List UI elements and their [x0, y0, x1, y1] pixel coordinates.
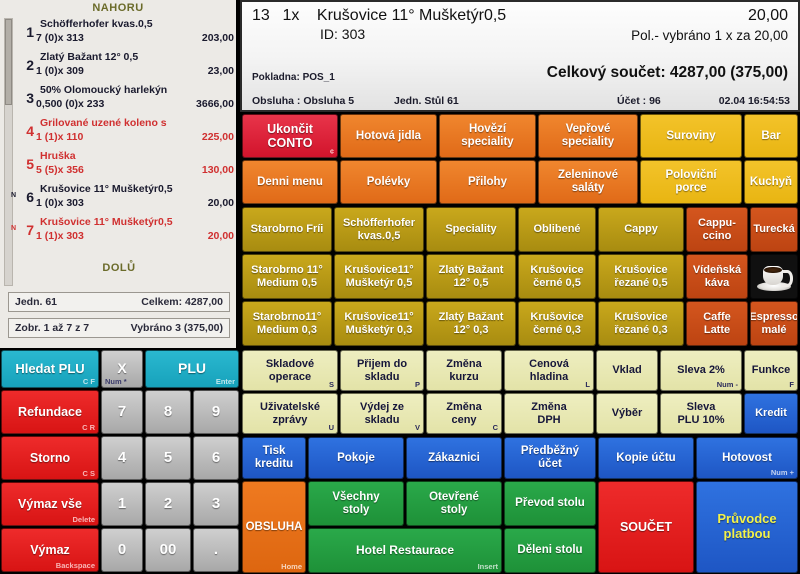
category-button-row2-3-label: Přilohy [466, 176, 509, 189]
function-button-row1-4-label: Cenováhladina [527, 358, 571, 383]
keypad-key-3-label: 3 [210, 496, 222, 513]
function-button-row2-1[interactable]: UživatelskézprávyU [242, 393, 338, 434]
function-button-row3-1-label: Tiskkreditu [253, 445, 295, 471]
line-item-number: 6 [18, 189, 34, 205]
function-button-row2-4[interactable]: ZměnaDPH [504, 393, 594, 434]
grand-total-label: Celkový součet: 4287,00 (375,00) [547, 64, 788, 82]
prevod-stolu-button[interactable]: Převod stolu [504, 481, 596, 526]
multiply-key-label: X [115, 361, 128, 377]
line-item-price: 3666,00 [196, 98, 234, 110]
keypad-key-8[interactable]: 8 [145, 390, 191, 434]
category-button-row2-2-label: Polévky [365, 176, 412, 189]
keypad-key-5-label: 5 [162, 450, 174, 467]
storno-button[interactable]: StornoC S [1, 436, 99, 480]
function-button-row3-4[interactable]: Předběžnýúčet [504, 437, 596, 479]
line-item-qty: 1 (0)x 309 [36, 65, 84, 77]
product-button-row5-7-label: Espressomalé [750, 311, 798, 336]
keypad-key-3[interactable]: 3 [193, 482, 239, 526]
line-item-name: Grilované uzené koleno s [40, 117, 167, 129]
line-item-name: Krušovice 11° Mušketýr0,5 [40, 216, 173, 228]
product-button-row4-2-label: Krušovice11°Mušketýr 0,5 [342, 264, 415, 289]
function-button-row3-4-label: Předběžnýúčet [519, 445, 581, 471]
obsluha-button-shortcut: Home [281, 563, 302, 571]
receipt-range-label: Zobr. 1 až 7 z 7 [15, 322, 89, 334]
function-button-row1-6-shortcut: Num - [717, 381, 738, 389]
product-button-row5-3-label: Zlatý Bažant12° 0,3 [437, 311, 506, 336]
product-button-row5-5-label: Krušoviceřezané 0,3 [612, 311, 669, 336]
function-button-row1-1-shortcut: S [329, 381, 334, 389]
vsechny-stoly-button[interactable]: Všechnystoly [308, 481, 404, 526]
line-item-number: 5 [18, 156, 34, 172]
plu-button-label: PLU [176, 361, 208, 377]
category-button-row2-3[interactable]: Přilohy [439, 160, 536, 204]
receipt-line-item[interactable]: 1Schöfferhofer kvas.0,57 (0)x 313203,00 [14, 18, 236, 51]
product-button-row5-1[interactable]: Starobrno11°Medium 0,3 [242, 301, 332, 346]
receipt-line-item[interactable]: N6Krušovice 11° Mušketýr0,51 (0)x 30320,… [14, 183, 236, 216]
multiply-key-shortcut: Num * [105, 378, 127, 386]
keypad-key-7-label: 7 [116, 404, 128, 421]
category-button-row2-1-label: Denni menu [255, 176, 325, 189]
category-button-row2-6-label: Kuchyň [748, 176, 794, 189]
receipt-line-item[interactable]: 4Grilované uzené koleno s1 (1)x 110225,0… [14, 117, 236, 150]
pos-application: NAHORU 1Schöfferhofer kvas.0,57 (0)x 313… [0, 0, 800, 574]
line-item-flag: N [11, 192, 16, 199]
product-button-row4-4-label: Krušovicečerné 0,5 [528, 264, 585, 289]
category-product-grid: UkončitCONTO¢Hotová jidlaHovězíspecialit… [240, 113, 800, 348]
line-item-qty: 5 (5)x 356 [36, 164, 84, 176]
line-item-name: Krušovice 11° Mušketýr0,5 [40, 183, 173, 195]
function-button-row2-7[interactable]: Kredit [744, 393, 798, 434]
category-button-row1-4[interactable]: Vepřovéspeciality [538, 114, 638, 158]
line-item-qty: 0,500 (0)x 233 [36, 98, 104, 110]
product-button-row4-7[interactable] [750, 254, 798, 299]
plu-button-shortcut: Enter [216, 378, 235, 386]
line-item-qty: 1 (1)x 303 [36, 230, 84, 242]
product-button-row3-5-label: Cappy [622, 223, 660, 235]
keypad-key-1-label: 1 [116, 496, 128, 513]
receipt-unit-label: Jedn. 61 [15, 296, 57, 308]
category-button-row1-5-label: Suroviny [664, 130, 717, 143]
function-button-row2-3[interactable]: ZměnacenyC [426, 393, 502, 434]
category-button-row2-1[interactable]: Denni menu [242, 160, 338, 204]
line-item-number: 7 [18, 222, 34, 238]
category-button-row1-3-label: Hovězíspeciality [459, 123, 515, 149]
product-button-row4-2[interactable]: Krušovice11°Mušketýr 0,5 [334, 254, 424, 299]
function-button-row1-5-label: Vklad [610, 364, 643, 376]
storno-button-shortcut: C S [82, 470, 95, 478]
product-button-row3-4-label: Oblibené [531, 223, 582, 235]
function-button-row1-1-label: Skladovéoperace [264, 358, 316, 383]
function-button-row2-5[interactable]: Výběr [596, 393, 658, 434]
current-line-row: 13 1x Krušovice 11° Mušketýr0,5 [252, 7, 506, 25]
receipt-selected-label: Vybráno 3 (375,00) [131, 322, 223, 334]
line-item-number: 1 [18, 24, 34, 40]
function-button-row1-3[interactable]: Změnakurzu [426, 350, 502, 391]
category-button-row2-4-label: Zeleninovésaláty [556, 169, 620, 195]
line-item-name: Hruška [40, 150, 76, 162]
pruvodce-platbou-button[interactable]: Průvodceplatbou [696, 481, 798, 573]
category-button-row2-6[interactable]: Kuchyň [744, 160, 798, 204]
receipt-panel: NAHORU 1Schöfferhofer kvas.0,57 (0)x 313… [0, 0, 238, 348]
function-button-row1-2[interactable]: Přijem doskladuP [340, 350, 424, 391]
product-button-row5-6-label: CaffeLatte [701, 311, 733, 336]
receipt-summary-row-1: Jedn. 61 Celkem: 4287,00 [8, 292, 230, 312]
keypad-key-8-label: 8 [162, 404, 174, 421]
receipt-line-item[interactable]: 2Zlatý Bažant 12° 0,51 (0)x 30923,00 [14, 51, 236, 84]
current-line-qty: 1x [282, 7, 312, 25]
hotel-restaurace-button-label: Hotel Restaurace [354, 544, 456, 557]
keypad-key-9[interactable]: 9 [193, 390, 239, 434]
prevod-stolu-button-label: Převod stolu [513, 497, 587, 510]
product-button-row3-1[interactable]: Starobrno Fríi [242, 207, 332, 252]
info-display-panel: 13 1x Krušovice 11° Mušketýr0,5 20,00 ID… [240, 0, 800, 112]
function-button-row1-5[interactable]: Vklad [596, 350, 658, 391]
product-button-row4-5[interactable]: Krušoviceřezané 0,5 [598, 254, 684, 299]
unit-label: Jedn. Stůl 61 [394, 95, 459, 107]
obsluha-button[interactable]: OBSLUHAHome [242, 481, 306, 573]
line-item-price: 23,00 [208, 65, 234, 77]
hledat-plu-button-shortcut: C F [83, 378, 95, 386]
category-button-row1-2-label: Hotová jidla [354, 130, 423, 143]
line-item-name: 50% Olomoucký harlekýn [40, 84, 167, 96]
product-button-row4-6-label: Vídeňskákáva [691, 264, 743, 289]
keypad-key-5[interactable]: 5 [145, 436, 191, 480]
current-line-name: Krušovice 11° Mušketýr0,5 [317, 7, 506, 24]
function-button-row2-3-label: Změnaceny [444, 401, 483, 426]
category-button-row1-1[interactable]: UkončitCONTO¢ [242, 114, 338, 158]
multiply-key[interactable]: XNum * [101, 350, 143, 388]
line-item-name: Schöfferhofer kvas.0,5 [40, 18, 153, 30]
product-button-row4-3[interactable]: Zlatý Bažant12° 0,5 [426, 254, 516, 299]
product-button-row3-7[interactable]: Turecká [750, 207, 798, 252]
product-button-row3-2[interactable]: Schöfferhoferkvas.0,5 [334, 207, 424, 252]
vsechny-stoly-button-label: Všechnystoly [330, 491, 381, 517]
deleni-stolu-button[interactable]: Děleni stolu [504, 528, 596, 573]
category-button-row2-4[interactable]: Zeleninovésaláty [538, 160, 638, 204]
keypad-key-0[interactable]: 0 [101, 528, 143, 572]
receipt-line-item[interactable]: 350% Olomoucký harlekýn0,500 (0)x 233366… [14, 84, 236, 117]
category-button-row1-3[interactable]: Hovězíspeciality [439, 114, 536, 158]
function-button-row1-7[interactable]: FunkceF [744, 350, 798, 391]
coffee-cup-icon [751, 255, 797, 298]
keypad-key-7[interactable]: 7 [101, 390, 143, 434]
product-button-row4-5-label: Krušoviceřezané 0,5 [612, 264, 669, 289]
pruvodce-platbou-button-label: Průvodceplatbou [715, 512, 778, 541]
receipt-line-item[interactable]: N7Krušovice 11° Mušketýr0,51 (1)x 30320,… [14, 216, 236, 249]
hledat-plu-button-label: Hledat PLU [13, 362, 86, 377]
line-item-qty: 1 (0)x 303 [36, 197, 84, 209]
product-button-row3-3[interactable]: Speciality [426, 207, 516, 252]
keypad-key-1[interactable]: 1 [101, 482, 143, 526]
product-button-row4-1[interactable]: Starobrno 11°Medium 0,5 [242, 254, 332, 299]
vymaz-vse-button[interactable]: Výmaz všeDelete [1, 482, 99, 526]
function-button-row2-2-label: Výdej zeskladu [358, 401, 406, 426]
deleni-stolu-button-label: Děleni stolu [515, 544, 584, 557]
category-button-row1-5[interactable]: Suroviny [640, 114, 742, 158]
function-button-row1-7-shortcut: F [789, 381, 794, 389]
function-button-row3-1[interactable]: Tiskkreditu [242, 437, 306, 479]
function-button-row3-6[interactable]: HotovostNum + [696, 437, 798, 479]
product-button-row5-1-label: Starobrno11°Medium 0,3 [251, 311, 324, 336]
current-line-selected-info: Pol.- vybráno 1 x za 20,00 [631, 28, 788, 43]
keypad-key-2[interactable]: 2 [145, 482, 191, 526]
product-button-row5-6[interactable]: CaffeLatte [686, 301, 748, 346]
product-button-row3-7-label: Turecká [751, 223, 796, 235]
product-button-row3-4[interactable]: Oblibené [518, 207, 596, 252]
refundace-button-label: Refundace [16, 405, 84, 419]
keypad-key-4[interactable]: 4 [101, 436, 143, 480]
vymaz-vse-button-shortcut: Delete [72, 516, 95, 524]
function-button-row1-2-label: Přijem doskladu [355, 358, 409, 383]
product-button-row5-5[interactable]: Krušoviceřezané 0,3 [598, 301, 684, 346]
soucet-button[interactable]: SOUČET [598, 481, 694, 573]
function-button-row3-5[interactable]: Kopie účtu [598, 437, 694, 479]
product-button-row4-6[interactable]: Vídeňskákáva [686, 254, 748, 299]
hotel-restaurace-button-shortcut: Insert [478, 563, 498, 571]
otevrene-stoly-button[interactable]: Otevřenéstoly [406, 481, 502, 526]
line-item-price: 225,00 [202, 131, 234, 143]
current-line-price: 20,00 [748, 7, 788, 25]
line-item-flag: N [11, 225, 16, 232]
category-button-row2-2[interactable]: Polévky [340, 160, 437, 204]
function-button-row1-6[interactable]: Sleva 2%Num - [660, 350, 742, 391]
function-button-row1-4[interactable]: CenováhladinaL [504, 350, 594, 391]
category-button-row1-4-label: Vepřovéspeciality [560, 123, 616, 149]
category-button-row1-6[interactable]: Bar [744, 114, 798, 158]
keypad-key-9-label: 9 [210, 404, 222, 421]
product-button-row3-2-label: Schöfferhoferkvas.0,5 [341, 217, 417, 242]
line-item-qty: 7 (0)x 313 [36, 32, 84, 44]
line-item-price: 20,00 [208, 230, 234, 242]
keypad-key-decimal[interactable]: . [193, 528, 239, 572]
receipt-item-list[interactable]: 1Schöfferhofer kvas.0,57 (0)x 313203,002… [14, 18, 236, 262]
keypad-key-00-label: 00 [158, 542, 179, 559]
product-button-row5-2[interactable]: Krušovice11°Mušketýr 0,3 [334, 301, 424, 346]
function-button-row2-4-label: ZměnaDPH [529, 401, 568, 426]
soucet-button-label: SOUČET [618, 520, 674, 534]
function-button-row3-3-label: Zákaznici [426, 452, 482, 465]
numeric-keypad-panel: Hledat PLUC FXNum *PLUEnterRefundaceC RS… [0, 349, 240, 574]
category-button-row1-2[interactable]: Hotová jidla [340, 114, 437, 158]
keypad-key-4-label: 4 [116, 450, 128, 467]
category-button-row1-1-shortcut: ¢ [330, 148, 334, 156]
line-item-qty: 1 (1)x 110 [36, 131, 83, 143]
current-line-id: ID: 303 [320, 26, 365, 42]
keypad-key-0-label: 0 [116, 542, 128, 559]
function-button-row2-6[interactable]: SlevaPLU 10% [660, 393, 742, 434]
function-button-row2-2-shortcut: V [415, 424, 420, 432]
function-button-row2-5-label: Výběr [610, 407, 645, 419]
product-button-row5-7[interactable]: Espressomalé [750, 301, 798, 346]
function-button-row3-3[interactable]: Zákaznici [406, 437, 502, 479]
datetime-label: 02.04 16:54:53 [719, 95, 790, 107]
function-button-row2-1-label: Uživatelskézprávy [258, 401, 322, 426]
function-button-row3-2[interactable]: Pokoje [308, 437, 404, 479]
scroll-up-label[interactable]: NAHORU [0, 0, 236, 18]
product-button-row3-3-label: Speciality [443, 223, 498, 235]
category-button-row1-6-label: Bar [759, 130, 782, 143]
account-label: Účet : 96 [617, 95, 661, 107]
receipt-line-item[interactable]: 5Hruška5 (5)x 356130,00 [14, 150, 236, 183]
function-button-row2-2[interactable]: Výdej zeskladuV [340, 393, 424, 434]
function-button-row1-7-label: Funkce [750, 364, 793, 376]
function-button-row2-6-label: SlevaPLU 10% [675, 401, 726, 426]
function-button-row3-5-label: Kopie účtu [614, 452, 677, 465]
product-button-row3-5[interactable]: Cappy [598, 207, 684, 252]
line-item-number: 2 [18, 57, 34, 73]
receipt-summary-row-2: Zobr. 1 až 7 z 7 Vybráno 3 (375,00) [8, 318, 230, 338]
product-button-row5-4[interactable]: Krušovicečerné 0,3 [518, 301, 596, 346]
product-button-row3-6[interactable]: Cappu-ccino [686, 207, 748, 252]
hotel-restaurace-button[interactable]: Hotel RestauraceInsert [308, 528, 502, 573]
current-line-number: 13 [252, 7, 278, 25]
keypad-key-decimal-label: . [212, 542, 220, 559]
otevrene-stoly-button-label: Otevřenéstoly [427, 491, 481, 517]
function-button-row1-6-label: Sleva 2% [675, 364, 727, 376]
category-button-row2-5-label: Polovičníporce [663, 169, 718, 195]
function-button-row3-2-label: Pokoje [335, 452, 377, 465]
line-item-number: 3 [18, 90, 34, 106]
product-button-row5-2-label: Krušovice11°Mušketýr 0,3 [342, 311, 415, 336]
refundace-button[interactable]: RefundaceC R [1, 390, 99, 434]
vymaz-button[interactable]: VýmazBackspace [1, 528, 99, 572]
scroll-down-label[interactable]: DOLŮ [0, 262, 238, 274]
function-button-row2-3-shortcut: C [493, 424, 498, 432]
function-grid: SkladovéoperaceSPřijem doskladuPZměnakur… [240, 349, 800, 574]
function-button-row1-3-label: Změnakurzu [444, 358, 483, 383]
hledat-plu-button[interactable]: Hledat PLUC F [1, 350, 99, 388]
operator-label: Obsluha : Obsluha 5 [252, 95, 354, 107]
receipt-scrollbar-thumb[interactable] [5, 19, 12, 105]
product-button-row5-3[interactable]: Zlatý Bažant12° 0,3 [426, 301, 516, 346]
function-button-row1-4-shortcut: L [585, 381, 590, 389]
function-button-row2-1-shortcut: U [329, 424, 334, 432]
plu-button[interactable]: PLUEnter [145, 350, 239, 388]
storno-button-label: Storno [28, 451, 72, 465]
vymaz-button-shortcut: Backspace [56, 562, 95, 570]
function-button-row3-6-label: Hotovost [720, 452, 774, 465]
product-button-row4-4[interactable]: Krušovicečerné 0,5 [518, 254, 596, 299]
keypad-key-2-label: 2 [162, 496, 174, 513]
vymaz-vse-button-label: Výmaz vše [16, 497, 84, 511]
register-label: Pokladna: POS_1 [252, 72, 335, 83]
function-button-row3-6-shortcut: Num + [771, 469, 794, 477]
vymaz-button-label: Výmaz [28, 543, 72, 557]
line-item-price: 130,00 [202, 164, 234, 176]
category-button-row2-5[interactable]: Polovičníporce [640, 160, 742, 204]
line-item-price: 20,00 [208, 197, 234, 209]
category-button-row1-1-label: UkončitCONTO [265, 122, 315, 150]
product-button-row5-4-label: Krušovicečerné 0,3 [528, 311, 585, 336]
receipt-total-label: Celkem: 4287,00 [141, 296, 223, 308]
product-button-row3-1-label: Starobrno Fríi [249, 223, 326, 235]
function-button-row2-7-label: Kredit [753, 407, 789, 419]
keypad-key-00[interactable]: 00 [145, 528, 191, 572]
keypad-key-6[interactable]: 6 [193, 436, 239, 480]
function-button-row1-2-shortcut: P [415, 381, 420, 389]
keypad-key-6-label: 6 [210, 450, 222, 467]
obsluha-button-label: OBSLUHA [244, 521, 305, 534]
product-button-row3-6-label: Cappu-ccino [696, 217, 738, 242]
product-button-row4-1-label: Starobrno 11°Medium 0,5 [249, 264, 325, 289]
receipt-scrollbar[interactable] [4, 18, 13, 286]
refundace-button-shortcut: C R [82, 424, 95, 432]
line-item-price: 203,00 [202, 32, 234, 44]
product-button-row4-3-label: Zlatý Bažant12° 0,5 [437, 264, 506, 289]
line-item-number: 4 [18, 123, 34, 139]
line-item-name: Zlatý Bažant 12° 0,5 [40, 51, 138, 63]
function-button-row1-1[interactable]: SkladovéoperaceS [242, 350, 338, 391]
